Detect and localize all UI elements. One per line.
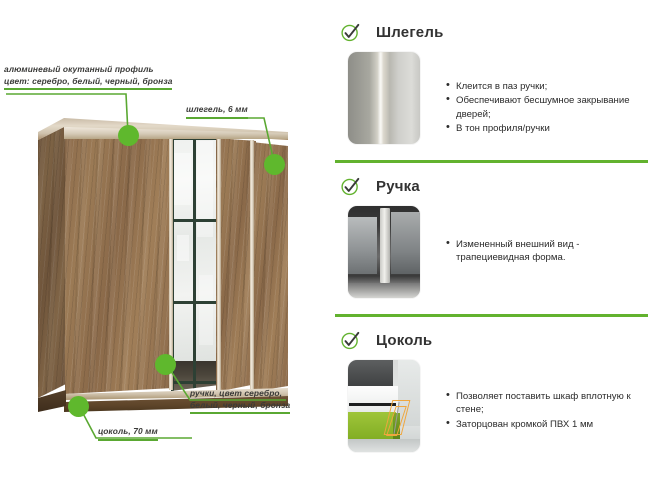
plinth-photo-shadow-gap (349, 403, 395, 406)
annotation-profile-line1: алюминевый окутанный профиль (4, 64, 154, 74)
bullet-item: Измененный внешний вид - трапециевидная … (456, 238, 644, 265)
bullet-item: Позволяет поставить шкаф вплотную к стен… (456, 390, 644, 417)
handle-photo-left-panel (348, 217, 377, 274)
feature-thumbnail-handle (348, 206, 420, 298)
shlegel-brush-strip (378, 52, 383, 144)
callout-dot-plinth (68, 396, 89, 417)
bullet-item: Заторцован кромкой ПВХ 1 мм (456, 418, 644, 431)
annotation-plinth-line1: цоколь, 70 мм (98, 426, 158, 441)
features-panel: Шлегель Клеится в паз ручки; Обеспечиваю… (331, 0, 652, 500)
feature-section-plinth: Цоколь Позволяет поставить шкаф вплотну (331, 326, 652, 476)
annotation-handles-line1: ручки, цвет серебро, (190, 388, 282, 398)
check-circle-icon (340, 175, 362, 197)
feature-title-shlegel: Шлегель (376, 24, 444, 41)
callout-dot-handles (155, 354, 176, 375)
callout-dot-shlegel (264, 154, 285, 175)
infographic-page: алюминевый окутанный профиль цвет: сереб… (0, 0, 652, 500)
feature-section-shlegel: Шлегель Клеится в паз ручки; Обеспечиваю… (331, 18, 652, 166)
handle-photo-right-panel (391, 212, 420, 275)
bullet-item: Клеится в паз ручки; (456, 80, 644, 93)
plinth-photo-cabinet-top (348, 360, 393, 388)
feature-bullets-handle: Измененный внешний вид - трапециевидная … (420, 206, 652, 266)
feature-bullets-shlegel: Клеится в паз ручки; Обеспечивают бесшум… (420, 52, 652, 137)
bullet-item: Обеспечивают бесшумное закрывание дверей… (456, 94, 644, 121)
feature-body-plinth: Позволяет поставить шкаф вплотную к стен… (331, 360, 652, 452)
annotation-plinth: цоколь, 70 мм (98, 426, 158, 441)
annotation-profile: алюминевый окутанный профиль цвет: сереб… (4, 64, 172, 90)
product-illustration-panel: алюминевый окутанный профиль цвет: сереб… (0, 0, 330, 500)
feature-title-handle: Ручка (376, 178, 420, 195)
feature-body-shlegel: Клеится в паз ручки; Обеспечивают бесшум… (331, 52, 652, 144)
annotation-profile-line2: цвет: серебро, белый, черный, бронза (4, 76, 172, 91)
feature-bullets-plinth: Позволяет поставить шкаф вплотную к стен… (420, 360, 652, 432)
section-divider (335, 314, 648, 317)
handle-photo-floor (348, 283, 420, 298)
check-circle-icon (340, 21, 362, 43)
feature-section-handle: Ручка Измененный внешний вид - трапециев… (331, 172, 652, 320)
feature-header-handle: Ручка (331, 172, 652, 200)
feature-body-handle: Измененный внешний вид - трапециевидная … (331, 206, 652, 298)
feature-header-plinth: Цоколь (331, 326, 652, 354)
feature-thumbnail-shlegel (348, 52, 420, 144)
feature-title-plinth: Цоколь (376, 332, 432, 349)
annotation-shlegel: шлегель, 6 мм (186, 104, 248, 119)
plinth-photo-floor (348, 439, 420, 452)
feature-header-shlegel: Шлегель (331, 18, 652, 46)
bullet-item: В тон профиля/ручки (456, 122, 644, 135)
handle-photo-profile-bar (380, 208, 389, 283)
annotation-shlegel-line1: шлегель, 6 мм (186, 104, 248, 119)
annotation-handles-line2: белый, черный, бронза (190, 400, 290, 415)
check-circle-icon (340, 329, 362, 351)
section-divider (335, 160, 648, 163)
annotation-handles: ручки, цвет серебро, белый, черный, брон… (190, 388, 290, 414)
callout-dot-profile (118, 125, 139, 146)
feature-thumbnail-plinth (348, 360, 420, 452)
